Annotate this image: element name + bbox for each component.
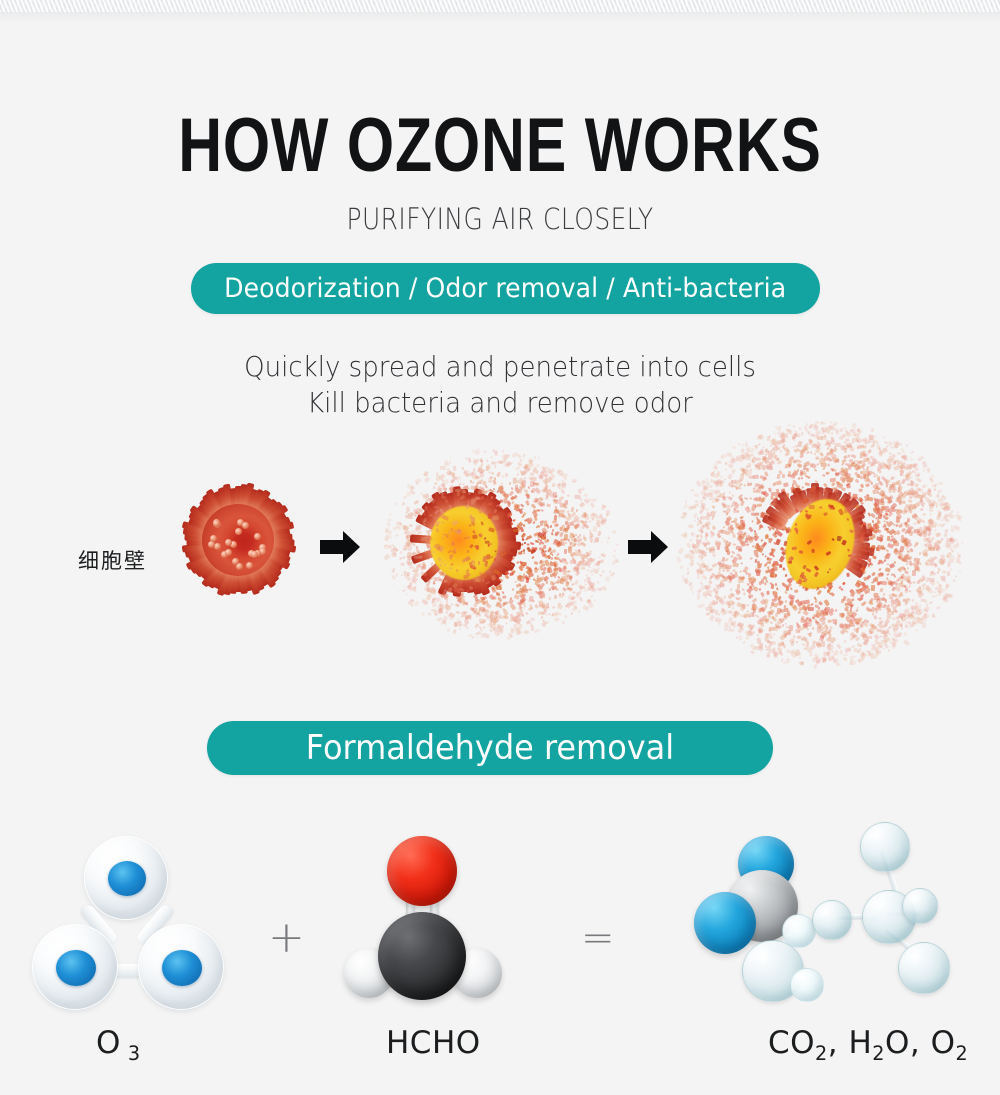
product-node-left <box>812 900 852 940</box>
product-node-bottom <box>898 942 950 994</box>
ozone-molecule <box>32 836 237 1011</box>
infographic-page: HOW OZONE WORKS PURIFYING AIR CLOSELY De… <box>0 0 1000 1095</box>
hcho-carbon <box>378 912 466 1000</box>
page-title: HOW OZONE WORKS <box>100 108 900 184</box>
formaldehyde-molecule <box>338 836 510 1014</box>
ozone-atom-right <box>138 924 224 1010</box>
operator-plus: + <box>268 916 305 960</box>
banner-deodorization-label: Deodorization / Odor removal / Anti-bact… <box>224 273 786 304</box>
description-text: Quickly spread and penetrate into cells … <box>0 349 1000 421</box>
page-subtitle: PURIFYING AIR CLOSELY <box>70 202 930 236</box>
product-oxygen-b <box>694 892 756 954</box>
ozone-atom-left <box>32 924 118 1010</box>
top-texture-fade <box>0 12 1000 22</box>
arrow-right-icon <box>318 528 362 566</box>
caption-formaldehyde: HCHO <box>386 1025 481 1061</box>
caption-ozone: O3 <box>96 1025 141 1065</box>
product-bubble-small <box>790 968 824 1002</box>
operator-equals: = <box>581 918 615 958</box>
product-node-right <box>902 888 938 924</box>
virus-stage-dispersed <box>677 418 952 670</box>
product-bubble-mid <box>782 914 816 948</box>
description-line-1: Quickly spread and penetrate into cells <box>35 349 965 385</box>
product-node-top <box>860 822 910 872</box>
arrow-right-icon-2 <box>626 528 670 566</box>
banner-formaldehyde-removal: Formaldehyde removal <box>207 721 773 775</box>
description-line-2: Kill bacteria and remove odor <box>35 385 965 421</box>
banner-deodorization: Deodorization / Odor removal / Anti-bact… <box>191 263 820 314</box>
ozone-atom-top <box>84 836 168 920</box>
virus-stage-intact <box>175 473 300 607</box>
products-molecules <box>690 818 980 1023</box>
banner-formaldehyde-label: Formaldehyde removal <box>306 728 674 768</box>
cell-wall-label: 细胞壁 <box>78 545 147 575</box>
virus-stage-breaking <box>382 444 597 646</box>
hcho-oxygen <box>387 836 457 906</box>
caption-products: CO2, H2O, O2 <box>768 1025 968 1065</box>
